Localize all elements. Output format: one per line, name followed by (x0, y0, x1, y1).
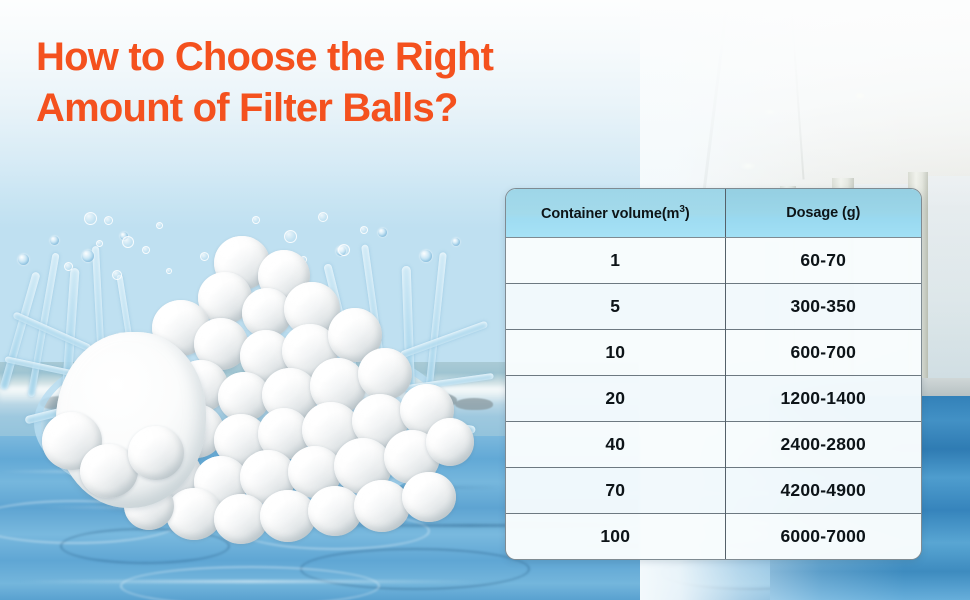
dosage-table-card: Container volume(m3) Dosage (g) 1 60-70 … (505, 188, 922, 560)
title-line-1: How to Choose the Right (36, 32, 636, 83)
cell-dosage: 600-700 (725, 329, 921, 375)
air-bubble (84, 212, 97, 225)
table-row: 40 2400-2800 (506, 421, 921, 467)
cell-dosage: 60-70 (725, 237, 921, 283)
filter-ball (358, 348, 412, 400)
air-bubble (156, 222, 163, 229)
column-header-dosage: Dosage (g) (725, 189, 921, 237)
title-line-2: Amount of Filter Balls? (36, 83, 636, 134)
water-ripple (120, 566, 380, 600)
cell-volume: 10 (506, 329, 725, 375)
water-highlight (20, 580, 480, 583)
filter-ball (426, 418, 474, 466)
table-row: 5 300-350 (506, 283, 921, 329)
dosage-table-body: 1 60-70 5 300-350 10 600-700 20 1200-140… (506, 237, 921, 559)
scene-blend-top (640, 0, 970, 210)
table-row: 1 60-70 (506, 237, 921, 283)
cell-volume: 1 (506, 237, 725, 283)
air-bubble (318, 212, 328, 222)
cell-volume: 20 (506, 375, 725, 421)
cell-dosage: 300-350 (725, 283, 921, 329)
table-row: 20 1200-1400 (506, 375, 921, 421)
cell-dosage: 4200-4900 (725, 467, 921, 513)
air-bubble (104, 216, 113, 225)
column-header-container-volume-tail: ) (685, 206, 690, 222)
cell-dosage: 1200-1400 (725, 375, 921, 421)
filter-ball (128, 426, 184, 480)
dosage-table-head: Container volume(m3) Dosage (g) (506, 189, 921, 237)
air-bubble (252, 216, 260, 224)
cell-volume: 5 (506, 283, 725, 329)
filter-ball (354, 480, 410, 532)
cell-volume: 100 (506, 513, 725, 559)
table-row: 70 4200-4900 (506, 467, 921, 513)
cell-dosage: 6000-7000 (725, 513, 921, 559)
air-bubble (360, 226, 368, 234)
promo-banner: How to Choose the Right Amount of Filter… (0, 0, 970, 600)
cell-dosage: 2400-2800 (725, 421, 921, 467)
cell-volume: 70 (506, 467, 725, 513)
page-title: How to Choose the Right Amount of Filter… (36, 32, 636, 134)
cell-volume: 40 (506, 421, 725, 467)
filter-ball (402, 472, 456, 522)
table-header-row: Container volume(m3) Dosage (g) (506, 189, 921, 237)
dosage-table: Container volume(m3) Dosage (g) 1 60-70 … (506, 189, 921, 559)
column-header-container-volume: Container volume(m3) (506, 189, 725, 237)
filter-ball-pile (18, 236, 470, 548)
table-row: 100 6000-7000 (506, 513, 921, 559)
table-row: 10 600-700 (506, 329, 921, 375)
column-header-container-volume-label: Container volume(m (541, 206, 679, 222)
